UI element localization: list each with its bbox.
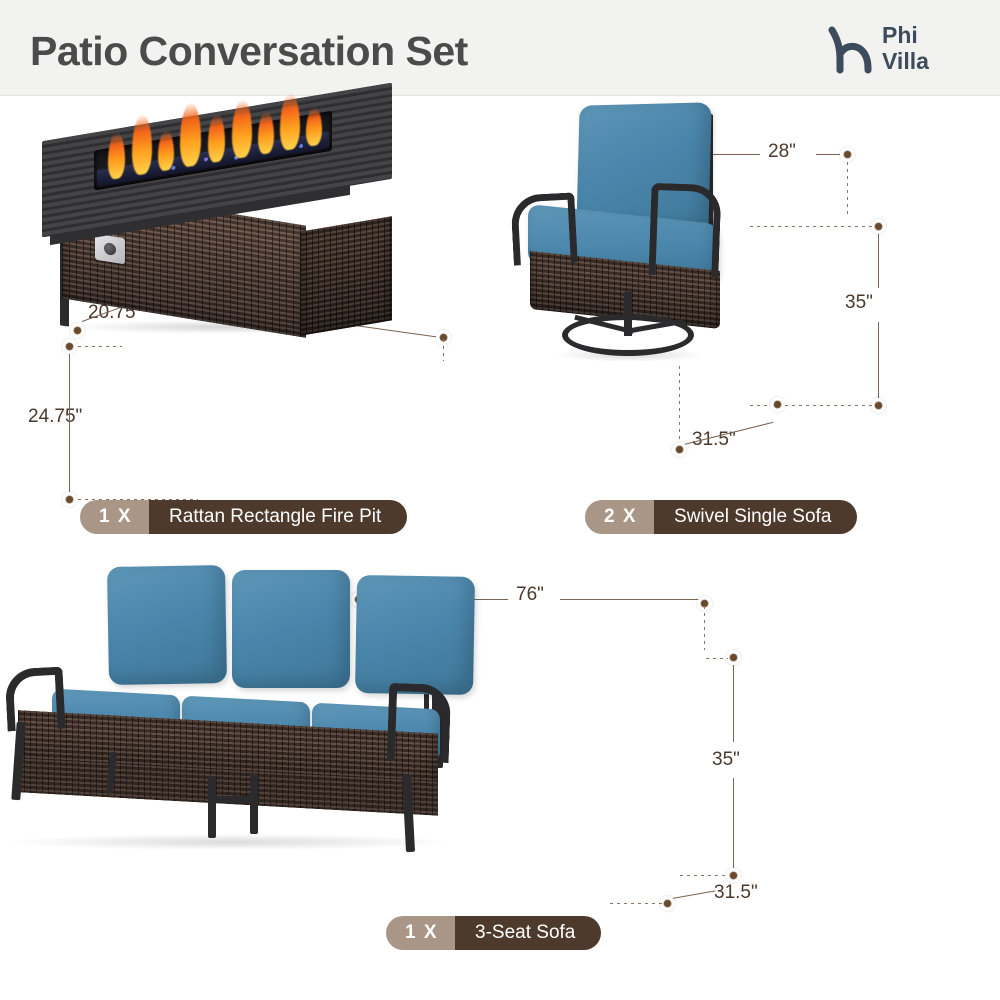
sofa-arm-right [387,683,452,763]
dimension-line-chair-height-top [878,226,879,288]
dimension-label-sofa-width: 76" [516,584,544,606]
flame-4 [180,101,201,169]
logo-line-2: Villa [882,48,929,74]
sofa-leg-center-brace [208,796,258,803]
chair-swivel-base-ring [562,314,694,356]
flame-7 [258,110,274,155]
phi-villa-mark-icon [824,26,880,74]
sofa-back-cushion-center [232,570,350,688]
flame-9 [306,106,322,147]
badge-quantity-three-seat-sofa: 1 X [386,916,455,950]
sofa-back-cushion-right [355,575,475,695]
dimension-node-sofa-depth-left [660,896,675,911]
dimension-node-chair-width-right [840,147,855,162]
product-badge-swivel-sofa: 2 X Swivel Single Sofa [585,500,857,534]
dimension-guide-sofa-width-right [704,606,705,650]
fire-pit-wicker-side [300,216,392,335]
fire-pit-control-knob[interactable] [95,234,125,265]
fire-pit-illustration [0,96,430,346]
page-title: Patio Conversation Set [30,28,468,75]
dimension-guide-sofa-height-bottom [680,875,728,876]
chair-arm-left [510,192,578,265]
swivel-chair-illustration [500,96,790,396]
dimension-label-chair-width: 28" [768,141,796,163]
dimension-guide-chair-height-bottom [750,405,872,406]
dimension-guide-fire-pit-height-top [78,346,122,347]
three-seat-sofa-illustration [0,546,540,856]
product-panel-fire-pit: 20.75" 56.75" 24.75" [0,96,500,546]
dimension-guide-fire-pit-width-right [443,339,444,361]
dimension-guide-sofa-depth [610,903,662,904]
dimension-node-sofa-height-top [726,650,741,665]
product-panel-three-seat-sofa: 76" 35" 31.5" [0,546,1000,1000]
badge-quantity-fire-pit: 1 X [80,500,149,534]
badge-quantity-swivel-sofa: 2 X [585,500,654,534]
dimension-label-sofa-height: 35" [712,749,740,771]
dimension-node-chair-height-bottom [871,398,886,413]
dimension-node-sofa-height-bottom [726,868,741,883]
sofa-leg-center-left [208,776,216,838]
dimension-line-sofa-height-top [733,658,734,742]
dimension-guide-sofa-height-top [706,658,728,659]
dimension-node-fire-pit-height-bottom [62,492,77,507]
dimension-line-fire-pit-height [69,346,70,498]
dimension-node-chair-height-top [871,219,886,234]
dimension-line-sofa-depth [672,890,716,899]
flame-3 [158,129,174,172]
page-header: Patio Conversation Set Phi Villa [0,0,1000,96]
dimension-line-sofa-height-bottom [733,778,734,874]
dimension-guide-chair-depth-left [679,366,680,442]
product-panel-swivel-sofa: 28" 35" 31.5" 2 X Swivel [500,96,1000,546]
dimension-guide-chair-height-top [750,226,872,227]
logo-line-1: Phi [882,22,929,48]
dimension-label-chair-height: 35" [845,292,873,314]
product-badge-fire-pit: 1 X Rattan Rectangle Fire Pit [80,500,407,534]
dimension-node-chair-depth-left [672,442,687,457]
dimension-label-fire-pit-height: 24.75" [28,406,82,428]
brand-logo: Phi Villa [824,22,974,78]
sofa-shadow [10,834,450,850]
dimension-node-chair-depth-right [770,397,785,412]
badge-label-three-seat-sofa: 3-Seat Sofa [455,916,601,950]
dimension-line-sofa-width-right [560,599,700,600]
badge-label-fire-pit: Rattan Rectangle Fire Pit [149,500,407,534]
chair-arm-right [648,183,721,277]
sofa-leg-center-right [250,774,258,834]
dimension-guide-chair-width-right [847,162,848,218]
sofa-back-cushion-left [107,565,227,685]
dimension-line-chair-height-bottom [878,322,879,404]
dimension-node-fire-pit-height-top [62,339,77,354]
logo-wordmark: Phi Villa [882,22,929,74]
product-badge-three-seat-sofa: 1 X 3-Seat Sofa [386,916,601,950]
dimension-label-sofa-depth: 31.5" [714,882,758,904]
sofa-arm-left [4,667,65,732]
badge-label-swivel-sofa: Swivel Single Sofa [654,500,857,534]
